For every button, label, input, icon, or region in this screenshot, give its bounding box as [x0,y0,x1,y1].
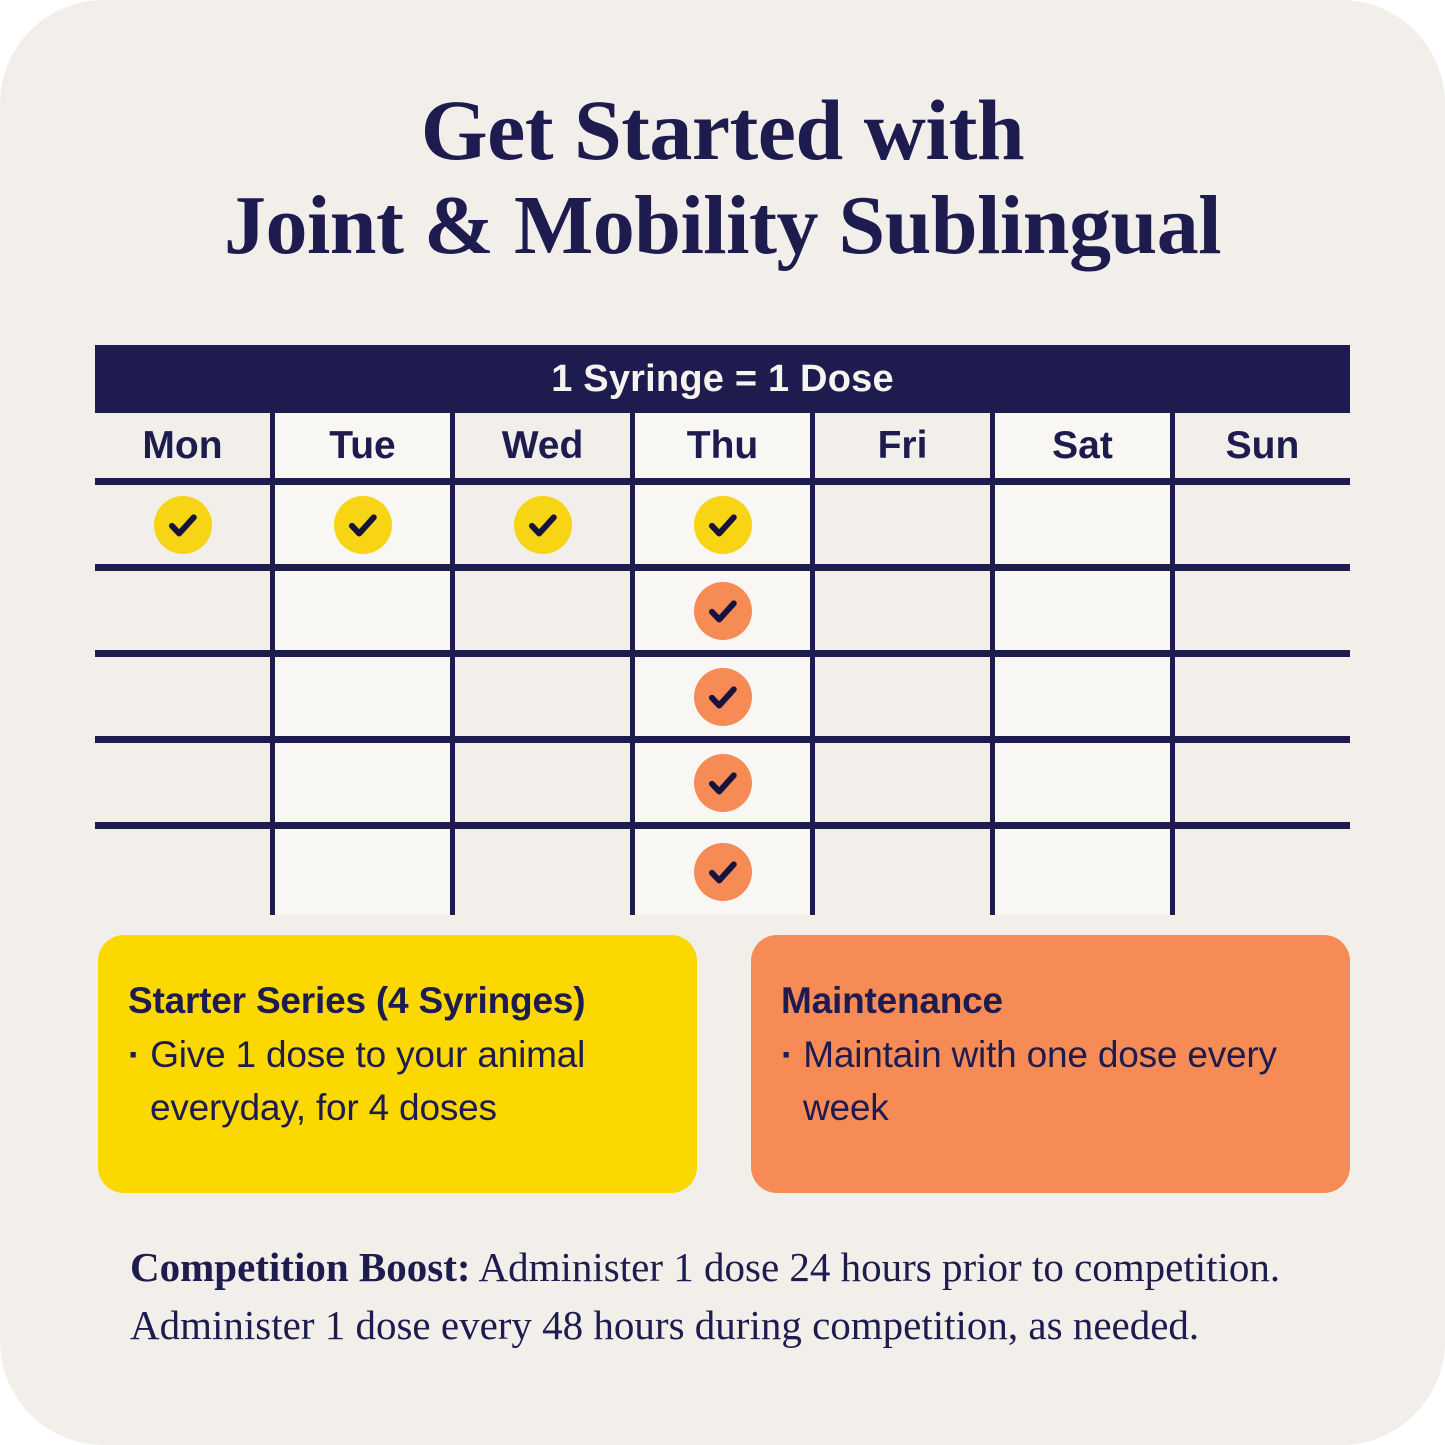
competition-boost-note: Competition Boost: Administer 1 dose 24 … [130,1238,1310,1354]
callout-heading-maintenance: Maintenance [781,979,1316,1023]
callout-maintenance: MaintenanceMaintain with one dose every … [751,935,1350,1193]
schedule-cell-mon-5[interactable] [95,829,270,915]
schedule-cell-mon-3[interactable] [95,657,270,736]
checkmark-icon [694,754,752,812]
schedule-cell-sun-2[interactable] [1170,571,1350,650]
schedule-cell-fri-3[interactable] [810,657,990,736]
schedule-cell-wed-1[interactable] [450,485,630,564]
schedule-cell-sat-3[interactable] [990,657,1170,736]
schedule-cell-tue-1[interactable] [270,485,450,564]
schedule-cell-tue-4[interactable] [270,743,450,822]
schedule-cell-sun-4[interactable] [1170,743,1350,822]
schedule-cell-mon-2[interactable] [95,571,270,650]
weekday-header-sat: Sat [990,413,1170,478]
schedule-grid-body [95,485,1350,915]
checkmark-icon [514,496,572,554]
schedule-cell-mon-1[interactable] [95,485,270,564]
schedule-cell-sat-4[interactable] [990,743,1170,822]
schedule-row [95,829,1350,915]
instruction-card: Get Started with Joint & Mobility Sublin… [0,0,1445,1445]
checkmark-icon [334,496,392,554]
callout-row: Starter Series (4 Syringes)Give 1 dose t… [98,935,1350,1193]
schedule-cell-thu-4[interactable] [630,743,810,822]
schedule-cell-mon-4[interactable] [95,743,270,822]
schedule-cell-fri-4[interactable] [810,743,990,822]
dosing-schedule-table: 1 Syringe = 1 Dose MonTueWedThuFriSatSun [95,345,1350,915]
schedule-cell-wed-2[interactable] [450,571,630,650]
weekday-header-sun: Sun [1170,413,1350,478]
schedule-cell-wed-5[interactable] [450,829,630,915]
schedule-cell-wed-4[interactable] [450,743,630,822]
schedule-row [95,657,1350,743]
schedule-cell-thu-5[interactable] [630,829,810,915]
schedule-cell-thu-2[interactable] [630,571,810,650]
checkmark-icon [694,582,752,640]
callout-bullet: Maintain with one dose every week [781,1029,1316,1134]
weekday-header-mon: Mon [95,413,270,478]
schedule-cell-wed-3[interactable] [450,657,630,736]
callout-heading-starter-series: Starter Series (4 Syringes) [128,979,663,1023]
schedule-cell-sun-1[interactable] [1170,485,1350,564]
weekday-header-wed: Wed [450,413,630,478]
schedule-cell-sat-5[interactable] [990,829,1170,915]
page-title: Get Started with Joint & Mobility Sublin… [70,82,1375,274]
checkmark-icon [694,496,752,554]
title-line-1: Get Started with [70,82,1375,179]
checkmark-icon [694,843,752,901]
weekday-header-fri: Fri [810,413,990,478]
schedule-cell-fri-5[interactable] [810,829,990,915]
schedule-cell-thu-1[interactable] [630,485,810,564]
schedule-cell-sun-3[interactable] [1170,657,1350,736]
syringe-dose-band: 1 Syringe = 1 Dose [95,345,1350,413]
schedule-row [95,743,1350,829]
checkmark-icon [154,496,212,554]
competition-boost-label: Competition Boost: [130,1244,471,1290]
schedule-cell-tue-5[interactable] [270,829,450,915]
callout-starter-series: Starter Series (4 Syringes)Give 1 dose t… [98,935,697,1193]
schedule-cell-sat-2[interactable] [990,571,1170,650]
schedule-cell-tue-2[interactable] [270,571,450,650]
title-line-2: Joint & Mobility Sublingual [70,179,1375,274]
callout-bullet-list: Give 1 dose to your animal everyday, for… [128,1029,663,1134]
schedule-cell-fri-1[interactable] [810,485,990,564]
callout-bullet: Give 1 dose to your animal everyday, for… [128,1029,663,1134]
checkmark-icon [694,668,752,726]
weekday-header-thu: Thu [630,413,810,478]
schedule-cell-sun-5[interactable] [1170,829,1350,915]
schedule-cell-fri-2[interactable] [810,571,990,650]
weekday-header-row: MonTueWedThuFriSatSun [95,413,1350,485]
weekday-header-tue: Tue [270,413,450,478]
syringe-dose-label: 1 Syringe = 1 Dose [551,358,894,401]
schedule-cell-thu-3[interactable] [630,657,810,736]
schedule-row [95,571,1350,657]
schedule-cell-sat-1[interactable] [990,485,1170,564]
schedule-cell-tue-3[interactable] [270,657,450,736]
callout-bullet-list: Maintain with one dose every week [781,1029,1316,1134]
schedule-row [95,485,1350,571]
